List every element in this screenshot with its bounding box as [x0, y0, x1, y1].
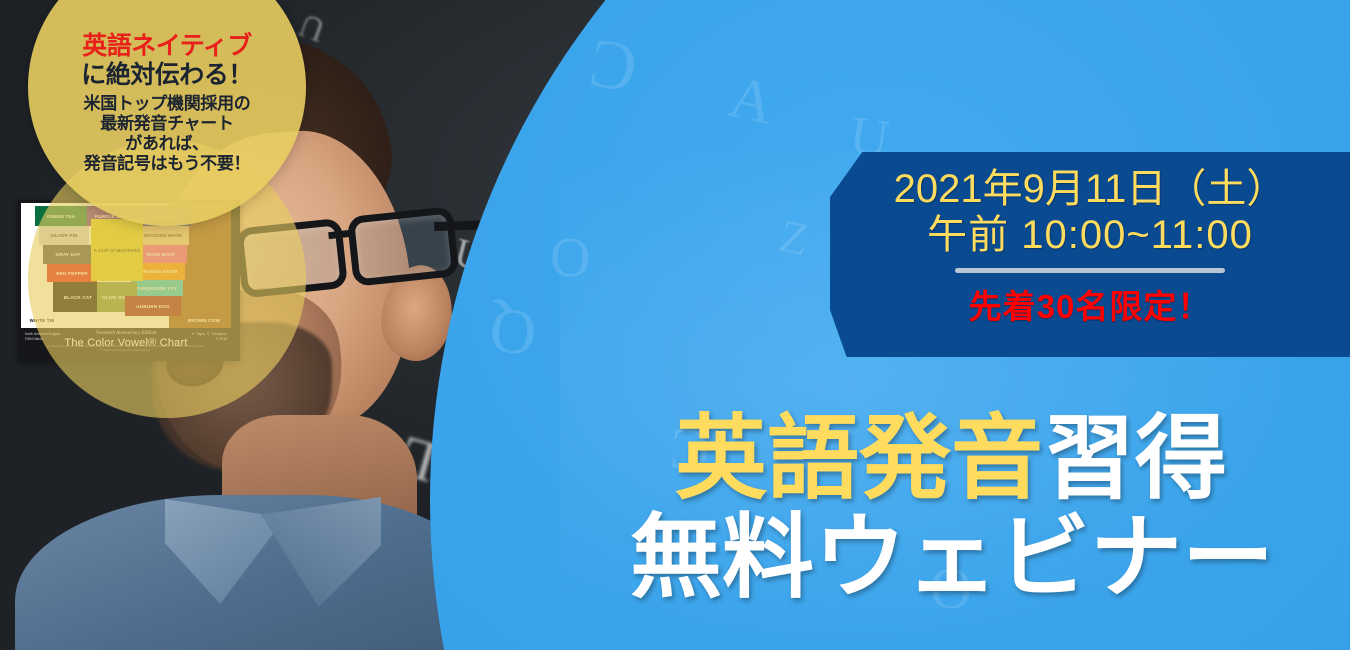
blue-shape-letter: O [550, 230, 590, 286]
title-part-yellow: 英語発音 [675, 408, 1043, 510]
chart-cell: BROWN COW [181, 315, 227, 325]
divider-rule [955, 268, 1225, 273]
chart-cell: A CUP of MUSTARD [91, 219, 143, 281]
date-info-box: 2021年9月11日（土） 午前 10:00~11:00 先着30名限定！ [830, 152, 1350, 357]
denim-shirt [15, 495, 485, 650]
chart-cell: GRAY DAY [43, 245, 93, 264]
highlight-badge-circle: 英語ネイティブ に絶対伝わる！ 米国トップ機関採用の 最新発音チャート があれば… [28, 0, 306, 226]
blue-shape-letter: A [724, 66, 779, 134]
chart-cell: SILVER PIN [39, 226, 89, 245]
webinar-banner: BRHAASUNAZZEFPAAAZOUUUZAOFANOAUUHLEFAUDA… [0, 0, 1350, 650]
chart-cell: AUBURN DOG [125, 296, 181, 316]
chart-fine-print-line2: info@colorvowel.org www.colorvowel.org [21, 349, 231, 352]
badge-sub-2: 最新発音チャート [100, 114, 233, 134]
shirt-collar-right [261, 497, 381, 607]
badge-line-2: に絶対伝わる！ [81, 60, 253, 90]
badge-sub-1: 米国トップ機関採用の [84, 94, 251, 114]
badge-sub-3: があれば、 [125, 134, 209, 154]
chart-fine-print: All rights reserved. This material may n… [21, 345, 231, 352]
glasses-left-lens [235, 218, 348, 299]
blue-shape-letter: Q [488, 298, 539, 365]
blue-shape-letter: Z [776, 213, 813, 264]
chart-cell: WOODEN HOOK [137, 226, 189, 245]
chart-cell: BLACK CAT [53, 282, 103, 312]
chart-anniversary-label: Twentieth Anniversary Edition [21, 331, 231, 336]
badge-line-1: 英語ネイティブ [82, 32, 252, 60]
chart-cell: WHITE TIE [22, 315, 62, 325]
chart-footer: North American English Fifth Edition K. … [21, 328, 231, 354]
main-title: 英語発音習得 無料ウェビナー [630, 412, 1350, 606]
glasses-bridge [328, 230, 351, 239]
title-line-2: 無料ウェビナー [630, 511, 1350, 606]
title-line-1: 英語発音習得 [630, 412, 1350, 507]
blue-shape-letter: C [584, 26, 642, 103]
seat-limit-notice: 先着30名限定！ [969, 280, 1212, 328]
webinar-date: 2021年9月11日（土） [894, 166, 1287, 212]
webinar-time: 午前 10:00~11:00 [927, 212, 1253, 258]
title-part-white: 習得 [1043, 408, 1227, 510]
badge-sub-4: 発音記号はもう不要！ [84, 154, 251, 174]
chart-cell: TURQUOISE TOY [131, 280, 183, 296]
chart-cell: RED PEPPER [47, 264, 97, 282]
